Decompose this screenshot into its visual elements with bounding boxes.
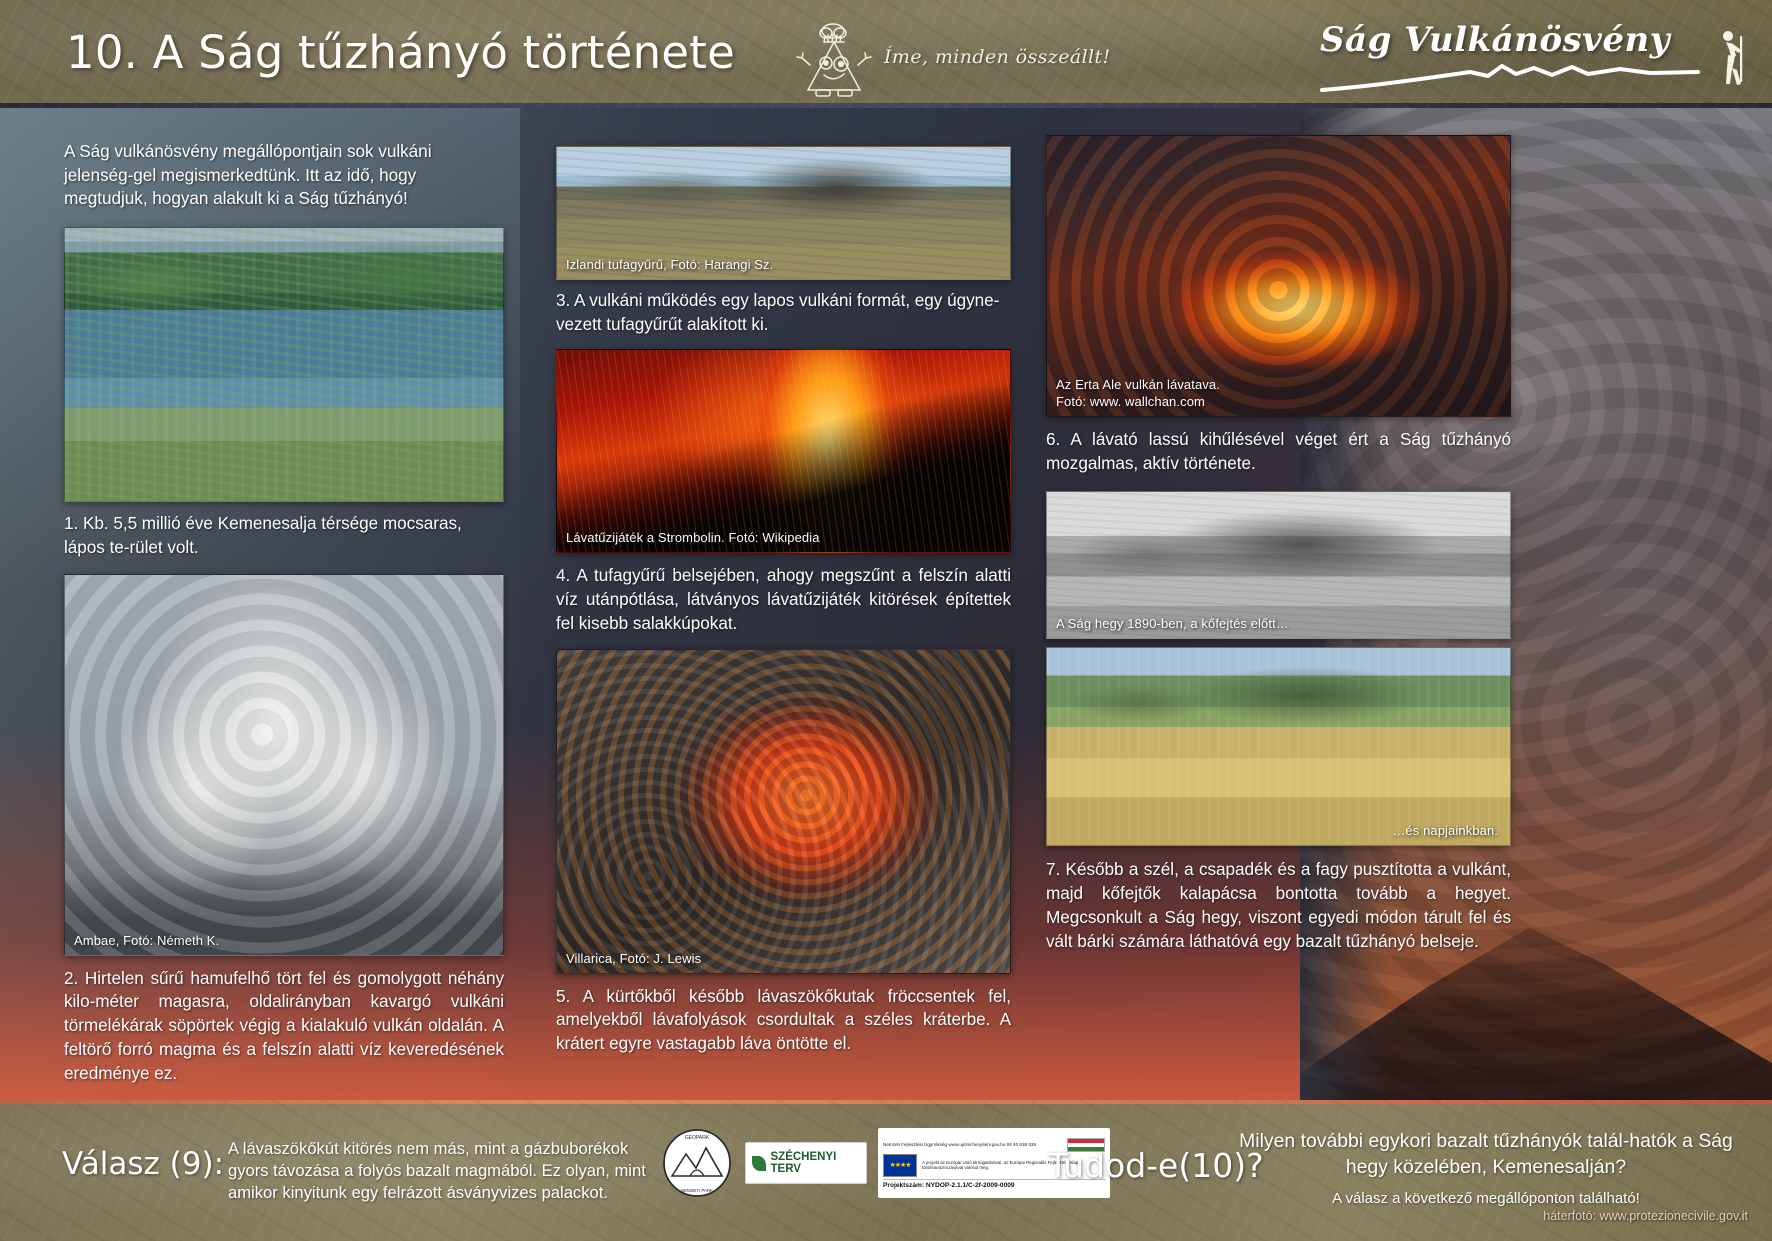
valasz-label: Válasz (9): [62, 1146, 224, 1182]
page-title: 10. A Ság tűzhányó története [66, 26, 735, 79]
poster-root: 10. A Ság tűzhányó története [0, 0, 1772, 1241]
caption-7: 7. Később a szél, a csapadék és a fagy p… [1046, 858, 1511, 953]
background-photo-credit: háterfotó: www.protezionecivile.gov.it [1543, 1209, 1748, 1223]
szechenyi-terv-label: SZÉCHENYI TERV [771, 1151, 861, 1175]
tudod-e-label: Tudod-e(10)? [1048, 1146, 1264, 1185]
svg-text:NEMZETI PARK: NEMZETI PARK [681, 1188, 713, 1193]
footer-divider [0, 1100, 1772, 1104]
content-columns: A Ság vulkánösvény megállópontjain sok v… [0, 108, 1772, 1100]
sag-hill-today-photo-credit: …és napjainkban. [1392, 823, 1498, 838]
caption-1: 1. Kb. 5,5 millió éve Kemenesalja térség… [64, 512, 504, 559]
caption-4: 4. A tufagyűrű belsejében, ahogy megszűn… [556, 564, 1011, 635]
erta-ale-photo-credit-line2: Fotó: www. wallchan.com [1056, 394, 1205, 409]
lake-marsh-photo [64, 227, 504, 502]
column-middle: Izlandi tufagyűrű, Fotó: Harangi Sz. 3. … [556, 108, 1011, 1056]
villarica-lava-photo: Villarica, Fotó: J. Lewis [556, 649, 1011, 974]
ash-cloud-photo-credit: Ambae, Fotó: Németh K. [74, 933, 219, 948]
tudod-e-subtext: A válasz a következő megállóponton talál… [1236, 1190, 1736, 1207]
column-left: A Ság vulkánösvény megállópontjain sok v… [64, 108, 504, 1085]
poster-footer: Válasz (9): A lávaszökőkút kitörés nem m… [0, 1100, 1772, 1241]
column-right: Az Erta Ale vulkán lávatava. Fotó: www. … [1046, 108, 1511, 953]
eu-agency-caption: Nemzeti Fejlesztési Ügynökség www.ujszec… [883, 1142, 1063, 1147]
caption-5: 5. A kürtőkből később lávaszökőkutak frö… [556, 985, 1011, 1056]
sponsor-logos: GEOPARK NEMZETI PARK SZÉCHENYI TERV Nemz… [660, 1126, 1110, 1200]
caption-6: 6. A lávató lassú kihűlésével véget ért … [1046, 428, 1511, 475]
sag-hill-1890-photo: A Ság hegy 1890-ben, a kőfejtés előtt… [1046, 491, 1511, 639]
poster-header: 10. A Ság tűzhányó története [0, 0, 1772, 108]
erta-ale-lava-lake-photo: Az Erta Ale vulkán lávatava. Fotó: www. … [1046, 135, 1511, 417]
sag-hill-1890-photo-credit: A Ság hegy 1890-ben, a kőfejtés előtt… [1056, 616, 1289, 631]
geopark-logo: GEOPARK NEMZETI PARK [660, 1126, 734, 1200]
stromboli-photo-credit: Lávatűzijáték a Strombolin. Fotó: Wikipe… [566, 530, 820, 545]
eu-stars-icon: ★★★★ [884, 1155, 916, 1176]
caption-2: 2. Hirtelen sűrű hamufelhő tört fel és g… [64, 967, 504, 1086]
szechenyi-terv-logo: SZÉCHENYI TERV [745, 1142, 867, 1184]
ash-cloud-photo: Ambae, Fotó: Németh K. [64, 574, 504, 956]
brand-logo: Ság Vulkánösvény [1320, 20, 1700, 99]
intro-text: A Ság vulkánösvény megállópontjain sok v… [64, 140, 504, 211]
tudod-e-block: Milyen további egykori bazalt tűzhányók … [1236, 1128, 1736, 1207]
tuff-ring-iceland-photo: Izlandi tufagyűrű, Fotó: Harangi Sz. [556, 146, 1011, 280]
hiker-icon [1706, 28, 1750, 91]
valasz-text: A lávaszökőkút kitörés nem más, mint a g… [228, 1138, 648, 1205]
sag-hill-today-photo: …és napjainkban. [1046, 647, 1511, 846]
caption-3: 3. A vulkáni működés egy lapos vulkáni f… [556, 289, 1011, 336]
mascot-quote: Íme, minden összeállt! [884, 46, 1111, 68]
mountain-profile-icon [1320, 60, 1700, 94]
eu-flag-icon: ★★★★ [883, 1154, 917, 1177]
stromboli-lava-fountain-photo: Lávatűzijáték a Strombolin. Fotó: Wikipe… [556, 349, 1011, 553]
brand-name: Ság Vulkánösvény [1320, 20, 1700, 60]
erta-ale-photo-credit-line1: Az Erta Ale vulkán lávatava. [1056, 377, 1220, 392]
tuff-ring-photo-credit: Izlandi tufagyűrű, Fotó: Harangi Sz. [566, 257, 773, 272]
villarica-photo-credit: Villarica, Fotó: J. Lewis [566, 951, 701, 966]
svg-text:GEOPARK: GEOPARK [685, 1135, 710, 1141]
leaf-icon [752, 1156, 766, 1171]
volcano-mascot-icon [788, 22, 880, 105]
tudod-e-question: Milyen további egykori bazalt tűzhányók … [1236, 1128, 1736, 1181]
